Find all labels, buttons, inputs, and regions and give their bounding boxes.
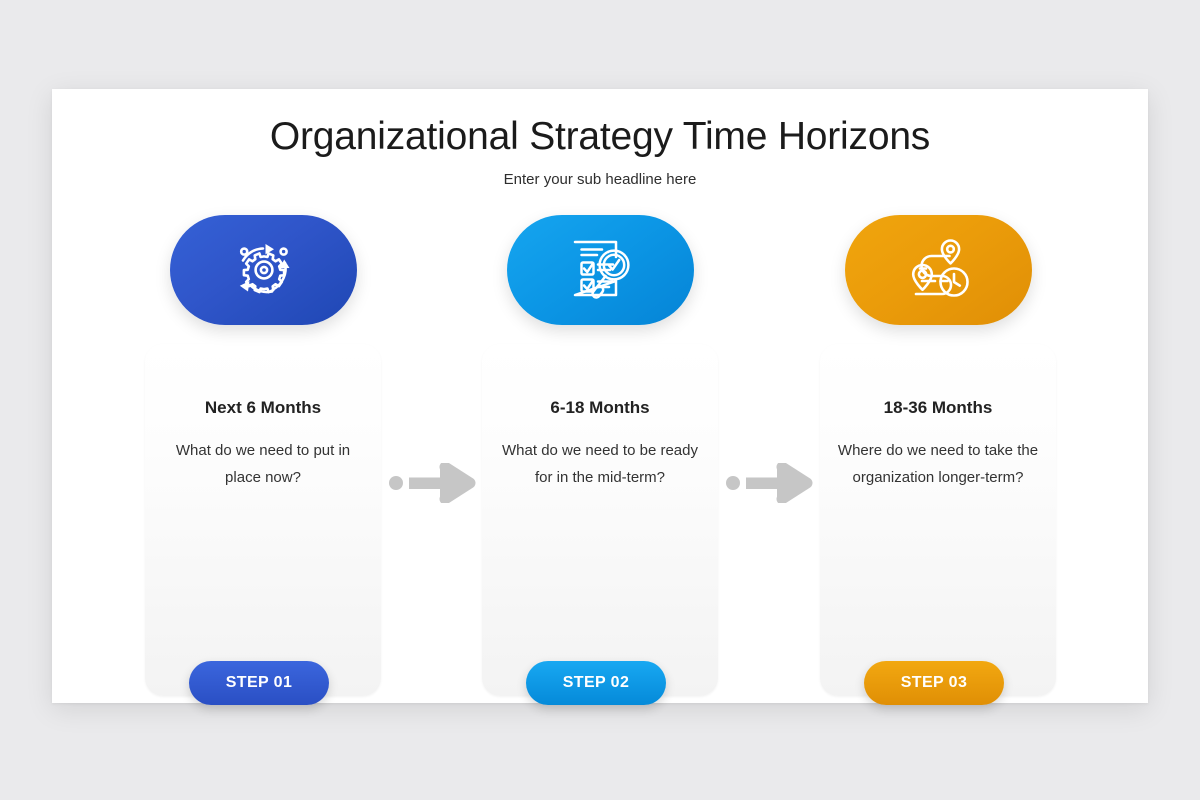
- card-body-text: What do we need to be ready for in the m…: [496, 437, 704, 491]
- step-button[interactable]: STEP 01: [189, 661, 329, 705]
- card-heading: 6-18 Months: [482, 398, 718, 418]
- checklist-magnifier-icon: [564, 233, 638, 307]
- card-panel: [145, 344, 381, 696]
- card-heading: Next 6 Months: [145, 398, 381, 418]
- page-subtitle: Enter your sub headline here: [52, 171, 1148, 188]
- arrow-card2-to-card3: [725, 463, 817, 503]
- card-icon-badge: [170, 215, 357, 325]
- gear-refresh-cycle-icon: [227, 233, 301, 307]
- dot-arrow-right-icon: [388, 463, 480, 503]
- card-body-text: What do we need to put in place now?: [159, 437, 367, 491]
- dot-arrow-right-icon: [725, 463, 817, 503]
- card-panel: [820, 344, 1056, 696]
- step-button[interactable]: STEP 03: [864, 661, 1004, 705]
- arrow-card1-to-card2: [388, 463, 480, 503]
- card-icon-badge: [507, 215, 694, 325]
- page-title: Organizational Strategy Time Horizons: [52, 115, 1148, 159]
- roadmap-pins-clock-icon: [902, 233, 976, 307]
- slide-canvas: Organizational Strategy Time Horizons En…: [52, 89, 1148, 703]
- card-heading: 18-36 Months: [820, 398, 1056, 418]
- step-button[interactable]: STEP 02: [526, 661, 666, 705]
- card-panel: [482, 344, 718, 696]
- card-body-text: Where do we need to take the organizatio…: [834, 437, 1042, 491]
- card-icon-badge: [845, 215, 1032, 325]
